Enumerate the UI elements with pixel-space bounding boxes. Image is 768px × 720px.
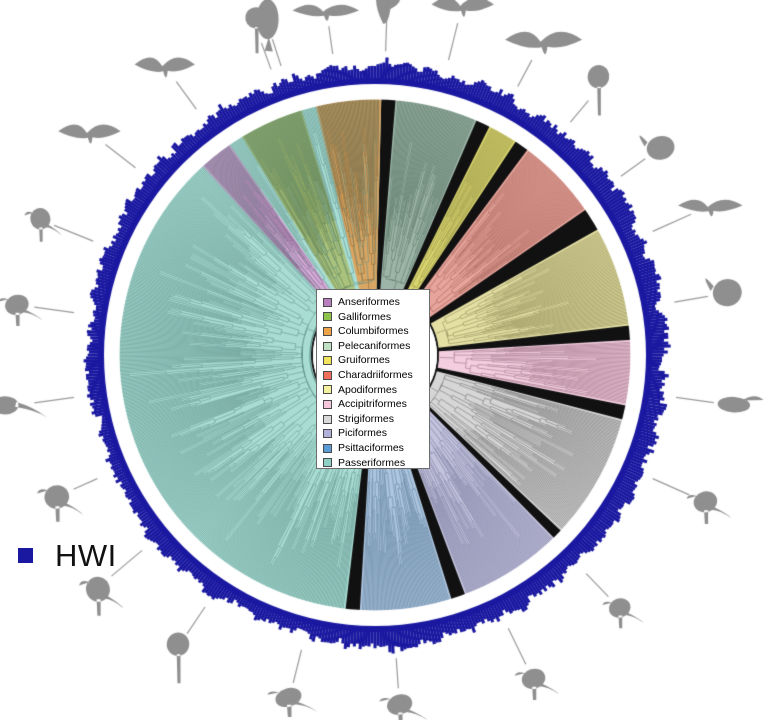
legend-item[interactable]: Strigiformes [323, 412, 425, 427]
legend-label-gruiformes: Gruiformes [338, 355, 390, 366]
legend-swatch-passeriformes [323, 458, 332, 467]
legend-label-passeriformes: Passeriformes [338, 458, 405, 469]
legend-label-psittaciformes: Psittaciformes [338, 443, 404, 454]
hwi-legend-label: HWI [55, 540, 117, 571]
legend-swatch-strigiformes [323, 415, 332, 424]
legend-swatch-galliformes [323, 312, 332, 321]
legend-item[interactable]: Piciformes [323, 426, 425, 441]
legend-item[interactable]: Anseriformes [323, 295, 425, 310]
legend-item[interactable]: Passeriformes [323, 456, 425, 471]
hwi-legend: HWI [18, 540, 117, 571]
taxon-legend: Anseriformes Galliformes Columbiformes P… [316, 289, 430, 469]
legend-label-columbiformes: Columbiformes [338, 326, 409, 337]
legend-item[interactable]: Galliformes [323, 310, 425, 325]
legend-item[interactable]: Accipitriformes [323, 397, 425, 412]
legend-swatch-columbiformes [323, 327, 332, 336]
legend-label-charadriiformes: Charadriiformes [338, 370, 413, 381]
legend-swatch-gruiformes [323, 356, 332, 365]
legend-swatch-psittaciformes [323, 444, 332, 453]
legend-label-anseriformes: Anseriformes [338, 297, 400, 308]
legend-label-apodiformes: Apodiformes [338, 385, 397, 396]
legend-label-piciformes: Piciformes [338, 428, 387, 439]
legend-swatch-anseriformes [323, 298, 332, 307]
legend-item[interactable]: Charadriiformes [323, 368, 425, 383]
legend-swatch-charadriiformes [323, 371, 332, 380]
phylogeny-figure: Anseriformes Galliformes Columbiformes P… [0, 0, 768, 720]
legend-swatch-accipitriformes [323, 400, 332, 409]
legend-label-pelecaniformes: Pelecaniformes [338, 341, 410, 352]
legend-label-galliformes: Galliformes [338, 312, 391, 323]
legend-label-accipitriformes: Accipitriformes [338, 399, 407, 410]
legend-item[interactable]: Gruiformes [323, 353, 425, 368]
legend-item[interactable]: Columbiformes [323, 324, 425, 339]
legend-swatch-piciformes [323, 429, 332, 438]
legend-label-strigiformes: Strigiformes [338, 414, 394, 425]
legend-item[interactable]: Apodiformes [323, 383, 425, 398]
legend-item[interactable]: Pelecaniformes [323, 339, 425, 354]
hwi-swatch-icon [18, 548, 33, 563]
legend-swatch-apodiformes [323, 385, 332, 394]
legend-swatch-pelecaniformes [323, 342, 332, 351]
legend-item[interactable]: Psittaciformes [323, 441, 425, 456]
